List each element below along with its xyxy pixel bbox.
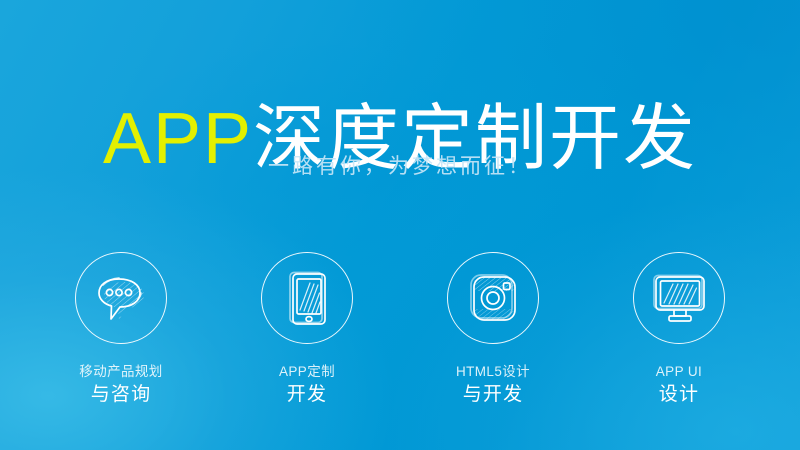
feature-label-bottom: 与开发 bbox=[456, 384, 530, 406]
feature-label-top: 移动产品规划 bbox=[79, 364, 162, 380]
feature-label: APP定制 开发 bbox=[279, 364, 335, 406]
icon-circle-frame bbox=[633, 252, 725, 344]
desktop-monitor-icon bbox=[649, 272, 709, 324]
feature-label: APP UI 设计 bbox=[656, 364, 702, 406]
feature-list: 移动产品规划 与咨询 bbox=[0, 252, 800, 406]
feature-item-consulting[interactable]: 移动产品规划 与咨询 bbox=[28, 252, 214, 406]
feature-label-bottom: 与咨询 bbox=[79, 384, 162, 406]
banner-content: APP深度定制开发 一路有你，为梦想而征！ bbox=[0, 0, 800, 450]
speech-bubble-icon bbox=[93, 272, 149, 324]
feature-label-bottom: 开发 bbox=[279, 384, 335, 406]
feature-item-app-development[interactable]: APP定制 开发 bbox=[214, 252, 400, 406]
feature-item-html5-design[interactable]: HTML5设计 与开发 bbox=[400, 252, 586, 406]
promo-banner: APP深度定制开发 一路有你，为梦想而征！ bbox=[0, 0, 800, 450]
icon-circle-frame bbox=[261, 252, 353, 344]
tablet-device-icon bbox=[285, 269, 329, 327]
feature-label: HTML5设计 与开发 bbox=[456, 364, 530, 406]
page-subtitle: 一路有你，为梦想而征！ bbox=[0, 150, 800, 180]
feature-label-bottom: 设计 bbox=[656, 384, 702, 406]
icon-circle-frame bbox=[447, 252, 539, 344]
feature-item-app-ui-design[interactable]: APP UI 设计 bbox=[586, 252, 772, 406]
camera-icon bbox=[465, 271, 521, 325]
feature-label-top: HTML5设计 bbox=[456, 364, 530, 380]
feature-label-top: APP UI bbox=[656, 364, 702, 380]
feature-label: 移动产品规划 与咨询 bbox=[79, 364, 162, 406]
feature-label-top: APP定制 bbox=[279, 364, 335, 380]
icon-circle-frame bbox=[75, 252, 167, 344]
